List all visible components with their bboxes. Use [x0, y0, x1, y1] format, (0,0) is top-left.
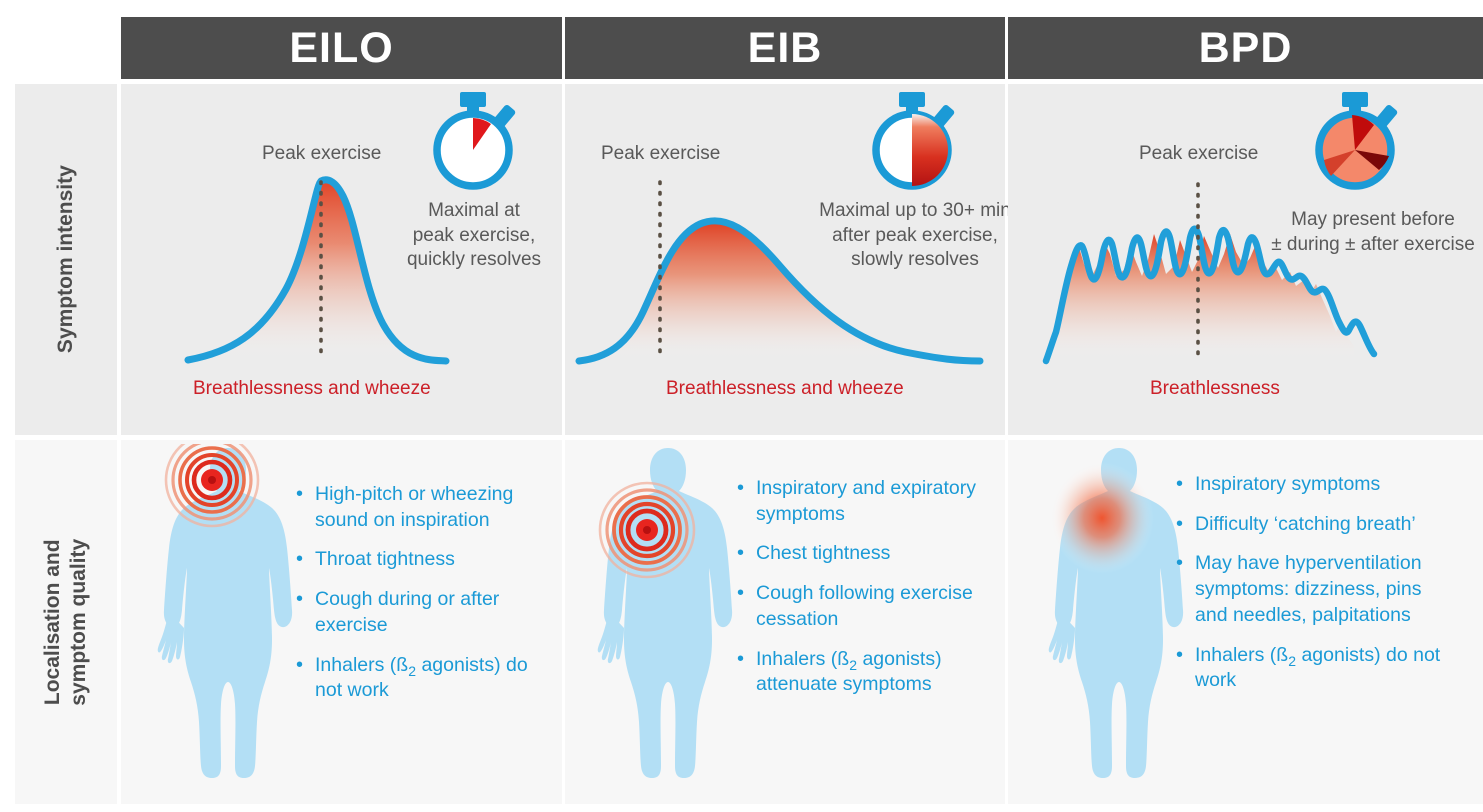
concentric-rings-marker-icon [600, 483, 694, 577]
human-body-icon-eilo [153, 444, 303, 789]
eib-peak-exercise-label: Peak exercise [601, 143, 720, 165]
list-item: Inhalers (ß2 agonists) attenuate symptom… [737, 647, 987, 698]
bpd-symptom-caption: Breathlessness [1150, 378, 1280, 400]
eilo-chart: Peak exercise Maximal atpeak exercise,qu… [121, 84, 562, 435]
bpd-timing-text: May present before± during ± after exerc… [1253, 208, 1483, 257]
row-label-symptom-intensity: Symptom intensity [15, 84, 117, 435]
list-item: High-pitch or wheezing sound on inspirat… [296, 482, 541, 533]
bpd-peak-exercise-label: Peak exercise [1139, 143, 1258, 165]
column-header-eilo: EILO [121, 17, 562, 79]
row-label-localisation-text: Localisation andsymptom quality [40, 539, 93, 706]
human-body-icon-bpd [1044, 444, 1194, 789]
bullet-list-bpd: Inspiratory symptomsDifficulty ‘catching… [1176, 472, 1441, 708]
cell-bpd-symptom-intensity: Peak exercise May present before± during… [1008, 84, 1483, 435]
stopwatch-icon-eilo [418, 88, 528, 198]
eib-timing-text: Maximal up to 30+ minafter peak exercise… [805, 199, 1025, 273]
concentric-rings-marker-icon [166, 444, 258, 526]
row-label-localisation: Localisation andsymptom quality [15, 440, 117, 804]
bpd-chart: Peak exercise May present before± during… [1008, 84, 1483, 435]
human-body-icon-eib [593, 444, 743, 789]
column-header-bpd-label: BPD [1199, 27, 1293, 70]
eilo-peak-exercise-label: Peak exercise [262, 143, 381, 165]
stopwatch-icon-eib [857, 88, 967, 198]
cell-eilo-symptom-intensity: Peak exercise Maximal atpeak exercise,qu… [121, 84, 562, 435]
eilo-timing-text: Maximal atpeak exercise,quickly resolves [389, 199, 559, 273]
eib-symptom-caption: Breathlessness and wheeze [666, 378, 904, 400]
stopwatch-icon-bpd [1300, 88, 1410, 198]
infographic-root: EILO EIB BPD Symptom intensity Localisat… [0, 0, 1483, 812]
cell-bpd-localisation: Inspiratory symptomsDifficulty ‘catching… [1008, 440, 1483, 804]
column-header-eilo-label: EILO [289, 27, 393, 70]
list-item: Inhalers (ß2 agonists) do not work [1176, 643, 1441, 694]
radial-glow-marker-icon [1050, 462, 1154, 574]
column-header-bpd: BPD [1008, 17, 1483, 79]
list-item: Cough during or after exercise [296, 587, 541, 638]
column-header-eib-label: EIB [748, 27, 823, 70]
list-item: Difficulty ‘catching breath’ [1176, 512, 1441, 538]
list-item: Inspiratory symptoms [1176, 472, 1441, 498]
column-header-eib: EIB [565, 17, 1005, 79]
list-item: May have hyperventilation symptoms: dizz… [1176, 551, 1441, 628]
cell-eib-localisation: Inspiratory and expiratory symptomsChest… [565, 440, 1005, 804]
list-item: Inhalers (ß2 agonists) do not work [296, 653, 541, 704]
cell-eib-symptom-intensity: Peak exercise [565, 84, 1005, 435]
cell-eilo-localisation: High-pitch or wheezing sound on inspirat… [121, 440, 562, 804]
bullet-list-eilo: High-pitch or wheezing sound on inspirat… [296, 482, 541, 718]
bullet-list-eib: Inspiratory and expiratory symptomsChest… [737, 476, 987, 712]
row-label-symptom-intensity-text: Symptom intensity [53, 166, 79, 354]
eib-chart: Peak exercise [565, 84, 1005, 435]
eilo-symptom-caption: Breathlessness and wheeze [193, 378, 431, 400]
list-item: Inspiratory and expiratory symptoms [737, 476, 987, 527]
list-item: Chest tightness [737, 541, 987, 567]
list-item: Cough following exercise cessation [737, 581, 987, 632]
list-item: Throat tightness [296, 547, 541, 573]
